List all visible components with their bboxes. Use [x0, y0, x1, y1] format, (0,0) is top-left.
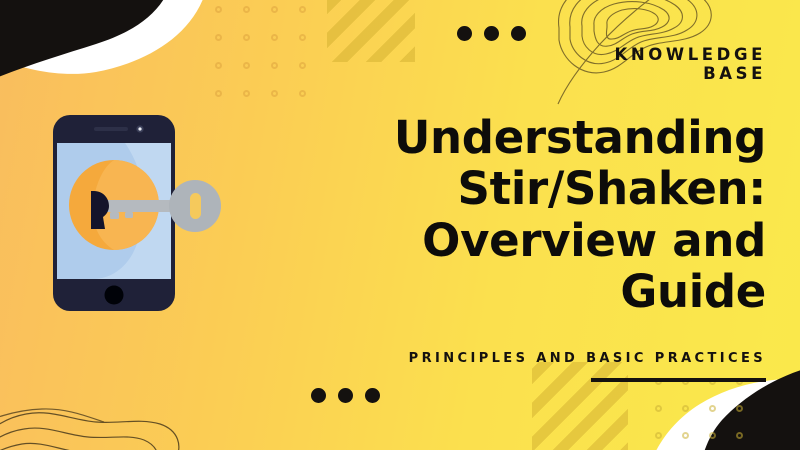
subtitle-wrap: PRINCIPLES AND BASIC PRACTICES	[296, 347, 766, 382]
dot-grid-bottom-right	[655, 378, 743, 439]
key-tooth	[110, 212, 119, 219]
dot-grid-top-left	[215, 6, 306, 97]
page-title: Understanding Stir/Shaken: Overview and …	[296, 112, 766, 317]
dot	[511, 26, 526, 41]
key-tooth	[125, 212, 133, 218]
eyebrow-line-2: BASE	[296, 64, 766, 83]
eyebrow-line-1: KNOWLEDGE	[296, 45, 766, 64]
knowledge-base-banner: KNOWLEDGE BASE Understanding Stir/Shaken…	[0, 0, 800, 450]
dot	[311, 388, 326, 403]
headline-text-block: KNOWLEDGE BASE Understanding Stir/Shaken…	[296, 45, 766, 382]
speaker-slot	[94, 127, 128, 131]
subtitle-underline-rule	[591, 378, 766, 382]
key-bow-hole	[190, 193, 201, 219]
home-button	[105, 286, 124, 305]
smartphone-security-illustration	[47, 113, 232, 313]
contour-lines-bottom-left	[0, 409, 179, 450]
dot	[457, 26, 472, 41]
three-dots-bottom-center	[311, 388, 380, 403]
dot	[338, 388, 353, 403]
dot	[484, 26, 499, 41]
eyebrow-label: KNOWLEDGE BASE	[296, 45, 766, 84]
dot	[365, 388, 380, 403]
three-dots-top-right	[457, 26, 526, 41]
page-subtitle: PRINCIPLES AND BASIC PRACTICES	[409, 351, 766, 375]
front-camera-lens	[138, 127, 141, 130]
